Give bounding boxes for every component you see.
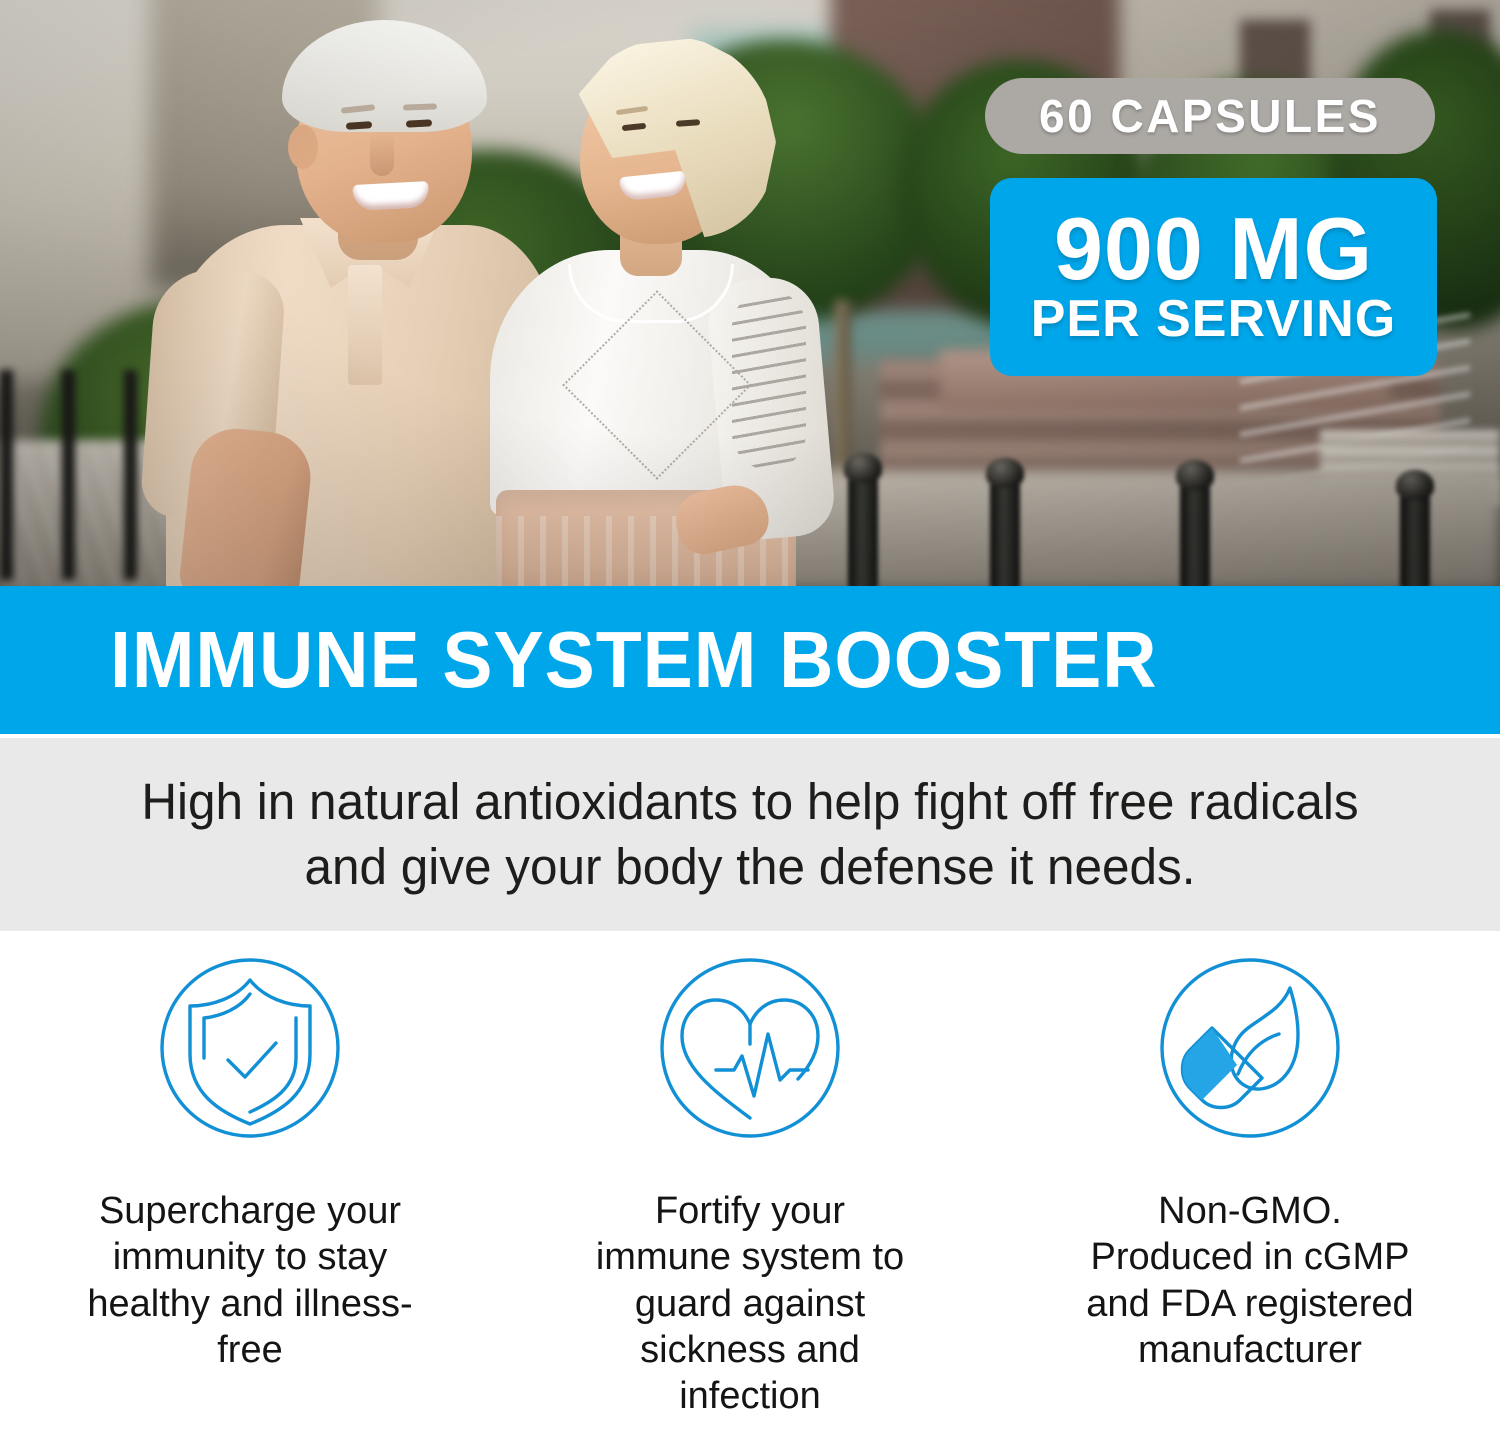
feature-caption: Non-GMO. Produced in cGMP and FDA regist…: [1085, 1188, 1415, 1373]
headline-banner: IMMUNE SYSTEM BOOSTER: [0, 586, 1500, 734]
subtitle-section: High in natural antioxidants to help fig…: [0, 738, 1500, 931]
dosage-amount: 900 MG: [1054, 207, 1373, 291]
feature-item: Fortify your immune system to guard agai…: [500, 948, 1000, 1445]
dosage-badge: 900 MG PER SERVING: [990, 178, 1437, 376]
capsule-count-label: 60 CAPSULES: [1039, 89, 1381, 143]
heart-pulse-icon: [650, 948, 850, 1148]
page-title: IMMUNE SYSTEM BOOSTER: [110, 614, 1158, 706]
product-infographic: 60 CAPSULES 900 MG PER SERVING IMMUNE SY…: [0, 0, 1500, 1445]
feature-item: Non-GMO. Produced in cGMP and FDA regist…: [1000, 948, 1500, 1445]
capsule-leaf-icon: [1150, 948, 1350, 1148]
dosage-unit: PER SERVING: [1031, 292, 1396, 347]
shield-check-icon: [150, 948, 350, 1148]
hero-photo: 60 CAPSULES 900 MG PER SERVING: [0, 0, 1500, 588]
feature-row: Supercharge your immunity to stay health…: [0, 948, 1500, 1445]
feature-caption: Fortify your immune system to guard agai…: [585, 1188, 915, 1420]
subtitle-text: High in natural antioxidants to help fig…: [124, 770, 1375, 899]
feature-item: Supercharge your immunity to stay health…: [0, 948, 500, 1445]
feature-caption: Supercharge your immunity to stay health…: [85, 1188, 415, 1373]
capsule-count-badge: 60 CAPSULES: [985, 78, 1435, 154]
